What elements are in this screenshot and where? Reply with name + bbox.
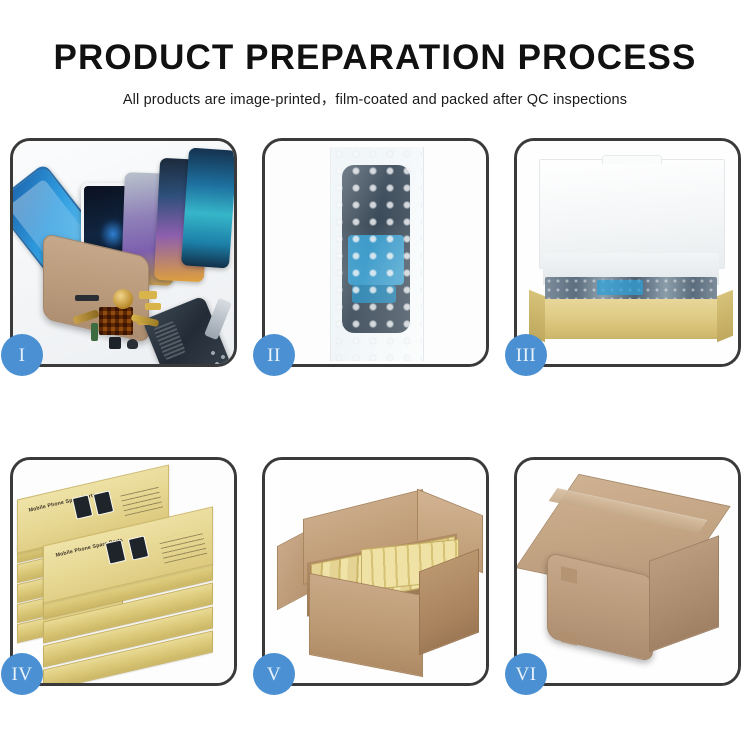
bubble-wrap-texture-icon — [330, 145, 422, 361]
vibrator-motor-icon — [113, 289, 133, 309]
battery-part-icon — [91, 323, 98, 341]
step-badge-1: I — [1, 334, 43, 376]
step-badge-2: II — [253, 334, 295, 376]
small-part-icon — [75, 295, 99, 301]
step-panel-3: III — [514, 138, 741, 367]
kraft-box-front-icon — [537, 299, 725, 339]
step-numeral: III — [516, 346, 536, 365]
step-numeral: V — [267, 665, 281, 684]
page-subtitle: All products are image-printed，film-coat… — [0, 78, 750, 109]
spare-parts-assortment-image — [13, 141, 234, 364]
step-panel-2: II — [262, 138, 489, 367]
carton-handle-tab-2-icon — [561, 630, 577, 646]
step-panel-6: VI — [514, 457, 741, 686]
step-numeral: VI — [515, 665, 536, 684]
retail-box-front: Mobile Phone Spare Parts — [43, 526, 211, 582]
copper-grid-chip-icon — [99, 307, 133, 335]
step-badge-6: VI — [505, 653, 547, 695]
sealed-shipping-carton-image — [517, 460, 738, 683]
steps-grid: I II — [10, 138, 740, 738]
step-panel-1: I — [10, 138, 237, 367]
open-shipping-carton-image — [265, 460, 486, 683]
page-title: PRODUCT PREPARATION PROCESS — [0, 0, 750, 78]
open-inner-box-image — [517, 141, 738, 364]
speaker-part-icon — [127, 339, 138, 349]
step-numeral: IV — [11, 665, 32, 684]
gold-connector-2-icon — [145, 303, 161, 310]
gold-connector-icon — [139, 291, 157, 299]
step-panel-5: V — [262, 457, 489, 686]
stacked-retail-boxes-image: Mobile Phone Spare Parts Mobile Phone Sp… — [13, 460, 234, 683]
step-badge-3: III — [505, 334, 547, 376]
step-numeral: II — [267, 346, 281, 365]
step-numeral: I — [19, 346, 26, 365]
step-panel-4: Mobile Phone Spare Parts Mobile Phone Sp… — [10, 457, 237, 686]
screws-icon — [209, 349, 231, 364]
camera-part-icon — [109, 337, 121, 349]
step-badge-5: V — [253, 653, 295, 695]
teal-phone-screen-icon — [181, 147, 234, 268]
step-badge-4: IV — [1, 653, 43, 695]
header: PRODUCT PREPARATION PROCESS All products… — [0, 0, 750, 109]
bubble-wrapped-screen-image — [265, 141, 486, 364]
product-preparation-infographic: PRODUCT PREPARATION PROCESS All products… — [0, 0, 750, 750]
